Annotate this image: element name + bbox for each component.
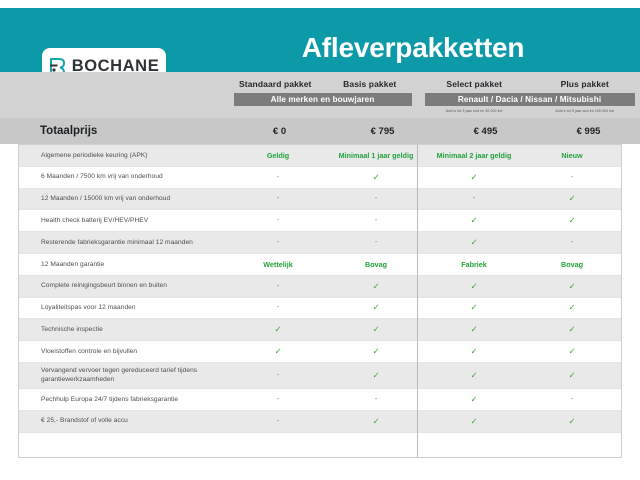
feature-values: --✓✓ — [229, 210, 621, 231]
feature-rows: Algemene periodieke keuring (APK)GeldigM… — [19, 145, 621, 458]
feature-value-basis: - — [327, 232, 425, 253]
feature-value-select: ✓ — [425, 232, 523, 253]
feature-value-basis: - — [327, 189, 425, 210]
feature-label: Resterende fabrieksgarantie minimaal 12 … — [19, 238, 229, 248]
feature-value-basis: ✓ — [327, 276, 425, 297]
package-group-standard: Standaard pakket Basis pakket Alle merke… — [228, 72, 417, 118]
package-group-brands: Select pakket Plus pakket Renault / Daci… — [419, 72, 640, 118]
feature-value-plus: ✓ — [523, 298, 621, 319]
table-row: Technische inspectie✓✓✓✓ — [19, 319, 621, 341]
feature-value-basis: Bovag — [327, 254, 425, 275]
feature-value-plus: ✓ — [523, 341, 621, 362]
feature-value-standaard: Geldig — [229, 145, 327, 166]
column-title-basis: Basis pakket — [323, 79, 418, 89]
feature-value-standaard: ✓ — [229, 319, 327, 340]
feature-value-basis: ✓ — [327, 411, 425, 432]
group-band-alle-merken: Alle merken en bouwjaren — [234, 93, 412, 106]
table-row: 12 Maanden / 15000 km vrij van onderhoud… — [19, 189, 621, 211]
table-row: € 25,- Brandstof of volle accu-✓✓✓ — [19, 411, 621, 433]
feature-value-plus: ✓ — [523, 319, 621, 340]
feature-value-basis: ✓ — [327, 319, 425, 340]
feature-value-plus: ✓ — [523, 363, 621, 388]
table-footer-spacer — [19, 433, 621, 458]
feature-value-select: ✓ — [425, 276, 523, 297]
feature-value-standaard: - — [229, 298, 327, 319]
total-price-plus: € 995 — [537, 118, 640, 144]
total-price-label: Totaalprijs — [40, 118, 97, 144]
feature-value-basis: ✓ — [327, 363, 425, 388]
feature-label: Algemene periodieke keuring (APK) — [19, 151, 229, 161]
column-title-standaard: Standaard pakket — [228, 79, 323, 89]
feature-value-basis: - — [327, 389, 425, 410]
feature-values: ---✓ — [229, 189, 621, 210]
feature-values: -✓✓✓ — [229, 411, 621, 432]
table-row: Pechhulp Europa 24/7 tijdens fabrieksgar… — [19, 389, 621, 411]
feature-value-standaard: - — [229, 167, 327, 188]
feature-value-plus: Bovag — [523, 254, 621, 275]
feature-values: --✓- — [229, 232, 621, 253]
feature-value-standaard: - — [229, 276, 327, 297]
feature-value-basis: ✓ — [327, 341, 425, 362]
column-header-band: Standaard pakket Basis pakket Alle merke… — [0, 72, 640, 118]
feature-value-standaard: - — [229, 232, 327, 253]
page-header: BOCHANE ALS JE VOORUIT WIL Afleverpakket… — [0, 8, 640, 72]
feature-value-plus: ✓ — [523, 210, 621, 231]
feature-values: WettelijkBovagFabriekBovag — [229, 254, 621, 275]
table-row: Vloeistoffen controle en bijvullen✓✓✓✓ — [19, 341, 621, 363]
feature-label: 6 Maanden / 7500 km vrij van onderhoud — [19, 172, 229, 182]
total-price-select: € 495 — [434, 118, 537, 144]
feature-values: -✓✓✓ — [229, 276, 621, 297]
feature-value-select: ✓ — [425, 411, 523, 432]
feature-value-plus: - — [523, 232, 621, 253]
feature-values: GeldigMinimaal 1 jaar geldigMinimaal 2 j… — [229, 145, 621, 166]
feature-value-plus: ✓ — [523, 411, 621, 432]
feature-value-select: - — [425, 189, 523, 210]
feature-label: Vervangend vervoer tegen gereduceerd tar… — [19, 366, 229, 385]
feature-value-standaard: Wettelijk — [229, 254, 327, 275]
feature-value-select: ✓ — [425, 210, 523, 231]
feature-values: ✓✓✓✓ — [229, 319, 621, 340]
feature-label: 12 Maanden garantie — [19, 260, 229, 270]
table-row: 6 Maanden / 7500 km vrij van onderhoud-✓… — [19, 167, 621, 189]
feature-label: Pechhulp Europa 24/7 tijdens fabrieksgar… — [19, 395, 229, 405]
column-title-plus: Plus pakket — [530, 79, 640, 89]
feature-value-select: Minimaal 2 jaar geldig — [425, 145, 523, 166]
feature-value-standaard: - — [229, 389, 327, 410]
feature-comparison-table: Algemene periodieke keuring (APK)GeldigM… — [18, 144, 622, 458]
feature-value-select: ✓ — [425, 319, 523, 340]
table-row: Algemene periodieke keuring (APK)GeldigM… — [19, 145, 621, 167]
total-price-standaard: € 0 — [228, 118, 331, 144]
table-row: Complete reinigingsbeurt binnen en buite… — [19, 276, 621, 298]
feature-label: Complete reinigingsbeurt binnen en buite… — [19, 281, 229, 291]
feature-values: -✓✓- — [229, 167, 621, 188]
feature-label: € 25,- Brandstof of volle accu — [19, 416, 229, 426]
feature-value-plus: ✓ — [523, 189, 621, 210]
feature-value-basis: ✓ — [327, 298, 425, 319]
feature-values: --✓- — [229, 389, 621, 410]
column-title-select: Select pakket — [419, 79, 530, 89]
feature-value-plus: - — [523, 389, 621, 410]
feature-value-select: ✓ — [425, 341, 523, 362]
feature-value-basis: ✓ — [327, 167, 425, 188]
feature-value-select: ✓ — [425, 363, 523, 388]
afleverpakketten-page: BOCHANE ALS JE VOORUIT WIL Afleverpakket… — [0, 0, 640, 480]
feature-value-select: Fabriek — [425, 254, 523, 275]
package-group-divider — [417, 145, 418, 458]
feature-value-standaard: - — [229, 363, 327, 388]
feature-label: Health check batterij EV/HEV/PHEV — [19, 216, 229, 226]
feature-value-basis: - — [327, 210, 425, 231]
total-price-cells: € 0 € 795 € 495 € 995 — [228, 118, 640, 144]
feature-value-standaard: ✓ — [229, 341, 327, 362]
feature-value-select: ✓ — [425, 167, 523, 188]
table-row: Vervangend vervoer tegen gereduceerd tar… — [19, 363, 621, 389]
column-sub-plus: Auto's tot 5 jaar oud en 100.000 km — [530, 109, 640, 113]
feature-label: Technische inspectie — [19, 325, 229, 335]
feature-value-select: ✓ — [425, 298, 523, 319]
feature-value-standaard: - — [229, 210, 327, 231]
feature-value-plus: - — [523, 167, 621, 188]
feature-label: 12 Maanden / 15000 km vrij van onderhoud — [19, 194, 229, 204]
feature-value-standaard: - — [229, 411, 327, 432]
page-title: Afleverpakketten — [186, 16, 640, 80]
feature-label: Loyaliteitspas voor 12 maanden — [19, 303, 229, 313]
total-price-basis: € 795 — [331, 118, 434, 144]
table-row: Resterende fabrieksgarantie minimaal 12 … — [19, 232, 621, 254]
feature-value-plus: Nieuw — [523, 145, 621, 166]
feature-label: Vloeistoffen controle en bijvullen — [19, 347, 229, 357]
feature-value-select: ✓ — [425, 389, 523, 410]
feature-value-plus: ✓ — [523, 276, 621, 297]
feature-value-standaard: - — [229, 189, 327, 210]
total-price-row: Totaalprijs € 0 € 795 € 495 € 995 — [0, 118, 640, 144]
feature-values: ✓✓✓✓ — [229, 341, 621, 362]
feature-values: -✓✓✓ — [229, 298, 621, 319]
table-row: 12 Maanden garantieWettelijkBovagFabriek… — [19, 254, 621, 276]
column-sub-select: Auto's tot 3 jaar oud en 30.000 km — [419, 109, 530, 113]
feature-value-basis: Minimaal 1 jaar geldig — [327, 145, 425, 166]
table-row: Loyaliteitspas voor 12 maanden-✓✓✓ — [19, 298, 621, 320]
table-row: Health check batterij EV/HEV/PHEV--✓✓ — [19, 210, 621, 232]
group-band-brands: Renault / Dacia / Nissan / Mitsubishi — [425, 93, 635, 106]
feature-values: -✓✓✓ — [229, 363, 621, 388]
